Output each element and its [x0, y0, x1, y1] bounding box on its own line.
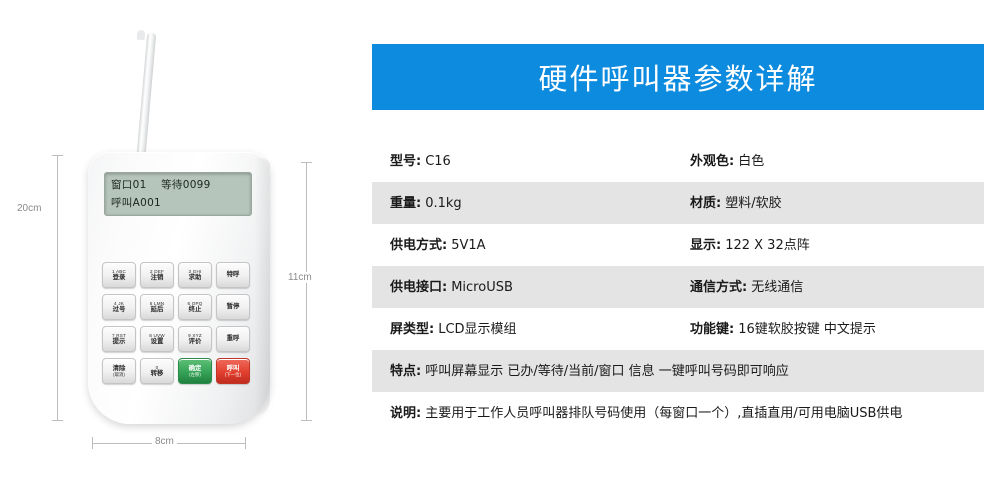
- key-confirm-left[interactable]: 确定 (左移): [178, 358, 212, 384]
- spec-cell-communication: 通信方式: 无线通信: [690, 276, 984, 297]
- spec-cell-material: 材质: 塑料/软胶: [690, 192, 984, 213]
- spec-value: C16: [425, 152, 451, 171]
- key-recall[interactable]: 重呼: [216, 326, 250, 352]
- antenna-icon: [136, 32, 156, 162]
- dimension-height-cap-top: [52, 155, 63, 156]
- lcd-line-1: 窗口01 等待0099: [111, 176, 245, 194]
- key-8-settings[interactable]: 8 UVW 设置: [140, 326, 174, 352]
- spec-cell-display: 显示: 122 X 32点阵: [690, 234, 984, 255]
- spec-cell-weight: 重量: 0.1kg: [372, 192, 690, 213]
- spec-key: 说明:: [390, 402, 421, 421]
- spec-key: 特点:: [390, 360, 421, 379]
- page-title: 硬件呼叫器参数详解: [538, 56, 817, 98]
- key-main-label: 求助: [189, 274, 202, 281]
- key-sub-label: (下一位): [225, 372, 241, 377]
- key-main-label: 暂停: [227, 303, 240, 310]
- spec-key: 屏类型:: [390, 318, 434, 337]
- table-row: 供电方式: 5V1A 显示: 122 X 32点阵: [372, 224, 984, 266]
- table-row: 型号: C16 外观色: 白色: [372, 140, 984, 182]
- product-spec-page: 窗口01 等待0099 呼叫A001 1 ABC 登录 2 DEF 注销 3 G…: [0, 0, 1000, 492]
- spec-value: LCD显示模组: [438, 320, 516, 339]
- key-main-label: 过号: [113, 306, 126, 313]
- spec-key: 重量:: [390, 192, 421, 211]
- key-sub-label: (左移): [189, 372, 201, 377]
- spec-banner: 硬件呼叫器参数详解: [372, 44, 984, 110]
- spec-value: 无线通信: [751, 278, 803, 297]
- lcd-screen: 窗口01 等待0099 呼叫A001: [104, 172, 252, 216]
- spec-key: 外观色:: [690, 150, 734, 169]
- dimension-depth-label: 11cm: [285, 272, 315, 283]
- key-main-label: 重呼: [227, 335, 240, 342]
- keypad: 1 ABC 登录 2 DEF 注销 3 GHI 求助 特呼 4 JK 过号: [102, 262, 256, 384]
- key-main-label: 评价: [189, 338, 202, 345]
- spec-cell-power-port: 供电接口: MicroUSB: [372, 276, 690, 297]
- key-5-postpone[interactable]: 5 LMN 延后: [140, 294, 174, 320]
- spec-value: 塑料/软胶: [725, 194, 781, 213]
- spec-key: 通信方式:: [690, 276, 747, 295]
- dimension-width-cap-left: [92, 437, 93, 449]
- spec-value: 5V1A: [451, 236, 485, 255]
- dimension-height-cap-bottom: [52, 420, 63, 421]
- spec-key: 功能键:: [690, 318, 734, 337]
- spec-value: 主要用于工作人员呼叫器排队号码使用（每窗口一个）,直插直用/可用电脑USB供电: [425, 404, 902, 423]
- key-3-help[interactable]: 3 GHI 求助: [178, 262, 212, 288]
- key-call-next[interactable]: 呼叫 (下一位): [216, 358, 250, 384]
- spec-cell-function-keys: 功能键: 16键软胶按键 中文提示: [690, 318, 984, 339]
- table-row: 说明: 主要用于工作人员呼叫器排队号码使用（每窗口一个）,直插直用/可用电脑US…: [372, 392, 984, 434]
- spec-value: 呼叫屏幕显示 已办/等待/当前/窗口 信息 一键呼叫号码即可响应: [425, 362, 789, 381]
- key-clear-cancel[interactable]: 清除 (取消): [102, 358, 136, 384]
- key-pause[interactable]: 暂停: [216, 294, 250, 320]
- key-4-skip[interactable]: 4 JK 过号: [102, 294, 136, 320]
- key-7-prompt[interactable]: 7 RST 提示: [102, 326, 136, 352]
- key-main-label: 设置: [151, 338, 164, 345]
- table-row: 重量: 0.1kg 材质: 塑料/软胶: [372, 182, 984, 224]
- key-2-logout[interactable]: 2 DEF 注销: [140, 262, 174, 288]
- key-main-label: 提示: [113, 338, 126, 345]
- spec-value: 白色: [738, 152, 764, 171]
- spec-key: 材质:: [690, 192, 721, 211]
- dimension-width-label: 8cm: [152, 436, 177, 447]
- key-main-label: 特呼: [227, 271, 240, 278]
- key-main-label: 终止: [189, 306, 202, 313]
- dimension-height-line: [57, 155, 58, 420]
- dimension-depth-cap-top: [301, 162, 312, 163]
- spec-cell-model: 型号: C16: [372, 150, 690, 171]
- spec-cell-screen-type: 屏类型: LCD显示模组: [372, 318, 690, 339]
- spec-value: MicroUSB: [451, 278, 513, 297]
- spec-cell-power-mode: 供电方式: 5V1A: [372, 234, 690, 255]
- key-special-call[interactable]: 特呼: [216, 262, 250, 288]
- key-main-label: 登录: [113, 274, 126, 281]
- key-6-terminate[interactable]: 6 OPQ 终止: [178, 294, 212, 320]
- dimension-width-cap-right: [245, 437, 246, 449]
- key-main-label: 转移: [151, 370, 164, 377]
- spec-cell-features: 特点: 呼叫屏幕显示 已办/等待/当前/窗口 信息 一键呼叫号码即可响应: [372, 360, 984, 381]
- spec-value: 0.1kg: [425, 194, 461, 213]
- dimension-depth-cap-bottom: [301, 420, 312, 421]
- dimension-height-label: 20cm: [14, 203, 44, 214]
- lcd-line-2: 呼叫A001: [111, 194, 245, 212]
- key-sub-label: (取消): [113, 372, 125, 377]
- spec-cell-color: 外观色: 白色: [690, 150, 984, 171]
- key-main-label: 延后: [151, 306, 164, 313]
- spec-key: 供电方式:: [390, 234, 447, 253]
- key-0-transfer[interactable]: 0 转移: [140, 358, 174, 384]
- spec-cell-description: 说明: 主要用于工作人员呼叫器排队号码使用（每窗口一个）,直插直用/可用电脑US…: [372, 402, 984, 423]
- antenna-tip-icon: [137, 30, 146, 41]
- product-photo-panel: 窗口01 等待0099 呼叫A001 1 ABC 登录 2 DEF 注销 3 G…: [0, 0, 360, 492]
- table-row: 特点: 呼叫屏幕显示 已办/等待/当前/窗口 信息 一键呼叫号码即可响应: [372, 350, 984, 392]
- spec-key: 供电接口:: [390, 276, 447, 295]
- device-body: 窗口01 等待0099 呼叫A001 1 ABC 登录 2 DEF 注销 3 G…: [88, 152, 270, 424]
- spec-key: 显示:: [690, 234, 721, 253]
- spec-value: 16键软胶按键 中文提示: [738, 320, 876, 339]
- spec-value: 122 X 32点阵: [725, 236, 810, 255]
- spec-panel: 硬件呼叫器参数详解 型号: C16 外观色: 白色 重量: 0.1kg: [372, 0, 984, 492]
- dimension-depth-line: [306, 162, 307, 420]
- table-row: 屏类型: LCD显示模组 功能键: 16键软胶按键 中文提示: [372, 308, 984, 350]
- spec-table: 型号: C16 外观色: 白色 重量: 0.1kg 材质: 塑料/软胶: [372, 140, 984, 434]
- key-9-rating[interactable]: 9 XYZ 评价: [178, 326, 212, 352]
- table-row: 供电接口: MicroUSB 通信方式: 无线通信: [372, 266, 984, 308]
- spec-key: 型号:: [390, 150, 421, 169]
- key-1-login[interactable]: 1 ABC 登录: [102, 262, 136, 288]
- key-main-label: 注销: [151, 274, 164, 281]
